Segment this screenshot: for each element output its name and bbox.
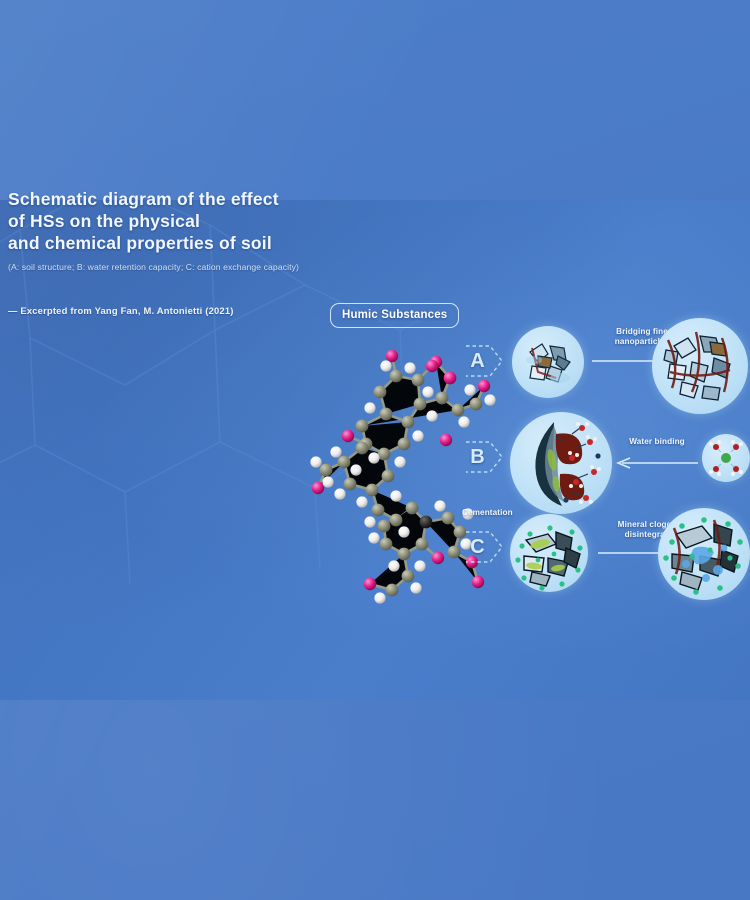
badge-c: C xyxy=(464,524,504,570)
soil-aggregate-icon-a-before xyxy=(512,326,584,398)
page-title: Schematic diagram of the effect of HSs o… xyxy=(8,188,338,254)
title-line-3: and chemical properties of soil xyxy=(8,232,338,254)
title-line-2: of HSs on the physical xyxy=(8,210,338,232)
caption-b: Water binding xyxy=(614,437,700,447)
humic-substances-chip[interactable]: Humic Substances xyxy=(330,303,459,328)
badge-b-letter: B xyxy=(464,434,491,480)
cementation-label: Cementation xyxy=(462,508,513,518)
badge-c-letter: C xyxy=(464,524,491,570)
attribution-line: — Excerpted from Yang Fan, M. Antonietti… xyxy=(8,305,338,316)
row-a: A Bridging fine nanoparticles xyxy=(462,318,750,410)
subtitle-legend: (A: soil structure; B: water retention c… xyxy=(8,261,338,273)
soil-aggregate-icon-c-after xyxy=(658,508,750,600)
banner-text-block: Schematic diagram of the effect of HSs o… xyxy=(8,188,338,316)
badge-a-letter: A xyxy=(464,338,491,384)
water-molecule-cluster-icon xyxy=(702,434,750,482)
soil-aggregate-icon-a-after xyxy=(652,318,748,414)
row-b: B xyxy=(462,412,750,508)
soil-aggregate-icon-c-before xyxy=(510,514,588,592)
water-retention-icon xyxy=(510,412,612,514)
badge-b: B xyxy=(464,434,504,480)
row-c: Cementation C xyxy=(462,508,750,600)
infographic-canvas: Schematic diagram of the effect of HSs o… xyxy=(0,0,750,900)
badge-a: A xyxy=(464,338,504,384)
title-line-1: Schematic diagram of the effect xyxy=(8,188,338,210)
arrow-left-b xyxy=(614,456,700,470)
